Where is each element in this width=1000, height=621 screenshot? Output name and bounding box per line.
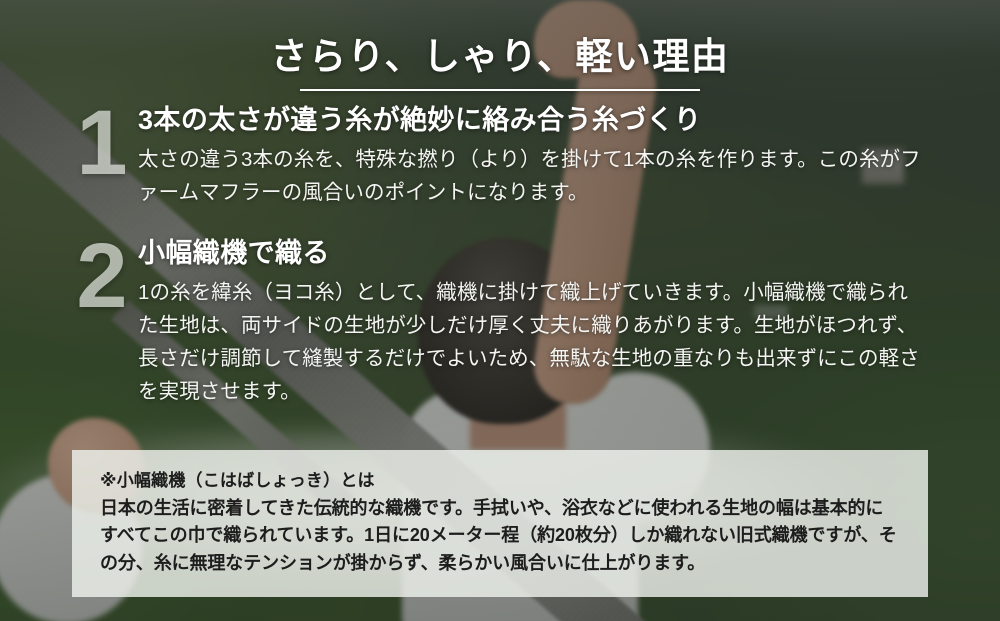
step-text-2: 1の糸を緯糸（ヨコ糸）として、織機に掛けて織上げていきます。小幅織機で織られた生… bbox=[138, 276, 926, 409]
content-layer: さらり、しゃり、軽い理由 1 3本の太さが違う糸が絶妙に絡み合う糸づくり 太さの… bbox=[0, 0, 1000, 621]
step-number-2: 2 bbox=[64, 230, 138, 322]
step-heading-2: 小幅織機で織る bbox=[138, 238, 926, 270]
infographic-stage: さらり、しゃり、軽い理由 1 3本の太さが違う糸が絶妙に絡み合う糸づくり 太さの… bbox=[0, 0, 1000, 621]
page-title: さらり、しゃり、軽い理由 bbox=[0, 26, 1000, 80]
step-body-2: 小幅織機で織る 1の糸を緯糸（ヨコ糸）として、織機に掛けて織上げていきます。小幅… bbox=[138, 238, 926, 409]
step-body-1: 3本の太さが違う糸が絶妙に絡み合う糸づくり 太さの違う3本の糸を、特殊な撚り（よ… bbox=[138, 105, 926, 209]
step-heading-1: 3本の太さが違う糸が絶妙に絡み合う糸づくり bbox=[138, 105, 926, 137]
step-text-1: 太さの違う3本の糸を、特殊な撚り（より）を掛けて1本の糸を作ります。この糸がファ… bbox=[138, 143, 926, 209]
note-title: ※小幅織機（こはばしょっき）とは bbox=[100, 470, 900, 493]
note-box: ※小幅織機（こはばしょっき）とは 日本の生活に密着してきた伝統的な織機です。手拭… bbox=[72, 450, 928, 597]
step-number-1: 1 bbox=[64, 97, 138, 189]
note-text: 日本の生活に密着してきた伝統的な織機です。手拭いや、浴衣などに使われる生地の幅は… bbox=[100, 495, 900, 577]
title-divider-rule bbox=[300, 89, 700, 91]
